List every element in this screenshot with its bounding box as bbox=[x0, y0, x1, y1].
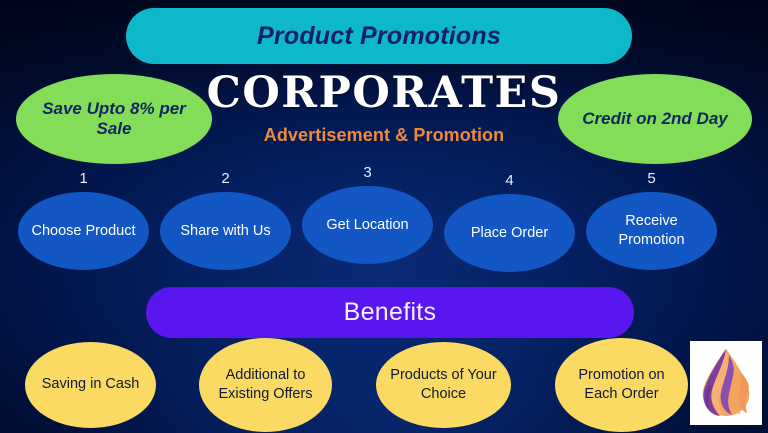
benefit-label-2: Additional to Existing Offers bbox=[199, 366, 332, 404]
step-item-2: 2 Share with Us bbox=[160, 170, 291, 274]
flame-droplet-logo bbox=[696, 347, 756, 419]
save-upto-badge-label: Save Upto 8% per Sale bbox=[16, 99, 212, 139]
credit-day-badge: Credit on 2nd Day bbox=[558, 74, 752, 164]
benefit-item-4: Promotion on Each Order bbox=[555, 338, 688, 432]
benefit-label-1: Saving in Cash bbox=[34, 375, 148, 394]
benefits-bar: Benefits bbox=[146, 287, 634, 338]
product-promotions-banner: Product Promotions bbox=[126, 8, 632, 64]
benefit-label-3: Products of Your Choice bbox=[376, 366, 511, 404]
benefits-bar-label: Benefits bbox=[344, 298, 437, 327]
step-label-3: Get Location bbox=[316, 216, 418, 235]
step-oval-1: Choose Product bbox=[18, 192, 149, 270]
save-upto-badge: Save Upto 8% per Sale bbox=[16, 74, 212, 164]
step-label-1: Choose Product bbox=[22, 222, 146, 241]
step-number-1: 1 bbox=[18, 170, 149, 187]
step-number-5: 5 bbox=[586, 170, 717, 187]
benefit-label-4: Promotion on Each Order bbox=[555, 366, 688, 404]
step-label-2: Share with Us bbox=[170, 222, 280, 241]
banner-title: Product Promotions bbox=[257, 22, 501, 51]
benefit-item-1: Saving in Cash bbox=[25, 342, 156, 428]
brand-logo-container bbox=[690, 341, 762, 425]
step-number-4: 4 bbox=[444, 172, 575, 189]
credit-day-badge-label: Credit on 2nd Day bbox=[570, 109, 739, 129]
step-item-5: 5 Receive Promotion bbox=[586, 170, 717, 274]
step-item-3: 3 Get Location bbox=[302, 164, 433, 268]
benefit-item-3: Products of Your Choice bbox=[376, 342, 511, 428]
step-oval-5: Receive Promotion bbox=[586, 192, 717, 270]
step-item-1: 1 Choose Product bbox=[18, 170, 149, 274]
step-oval-2: Share with Us bbox=[160, 192, 291, 270]
step-oval-3: Get Location bbox=[302, 186, 433, 264]
promotion-poster: Product Promotions Save Upto 8% per Sale… bbox=[0, 0, 768, 433]
benefit-item-2: Additional to Existing Offers bbox=[199, 338, 332, 432]
step-number-3: 3 bbox=[302, 164, 433, 181]
step-oval-4: Place Order bbox=[444, 194, 575, 272]
step-label-4: Place Order bbox=[461, 224, 558, 243]
step-label-5: Receive Promotion bbox=[586, 212, 717, 250]
step-number-2: 2 bbox=[160, 170, 291, 187]
step-item-4: 4 Place Order bbox=[444, 172, 575, 276]
